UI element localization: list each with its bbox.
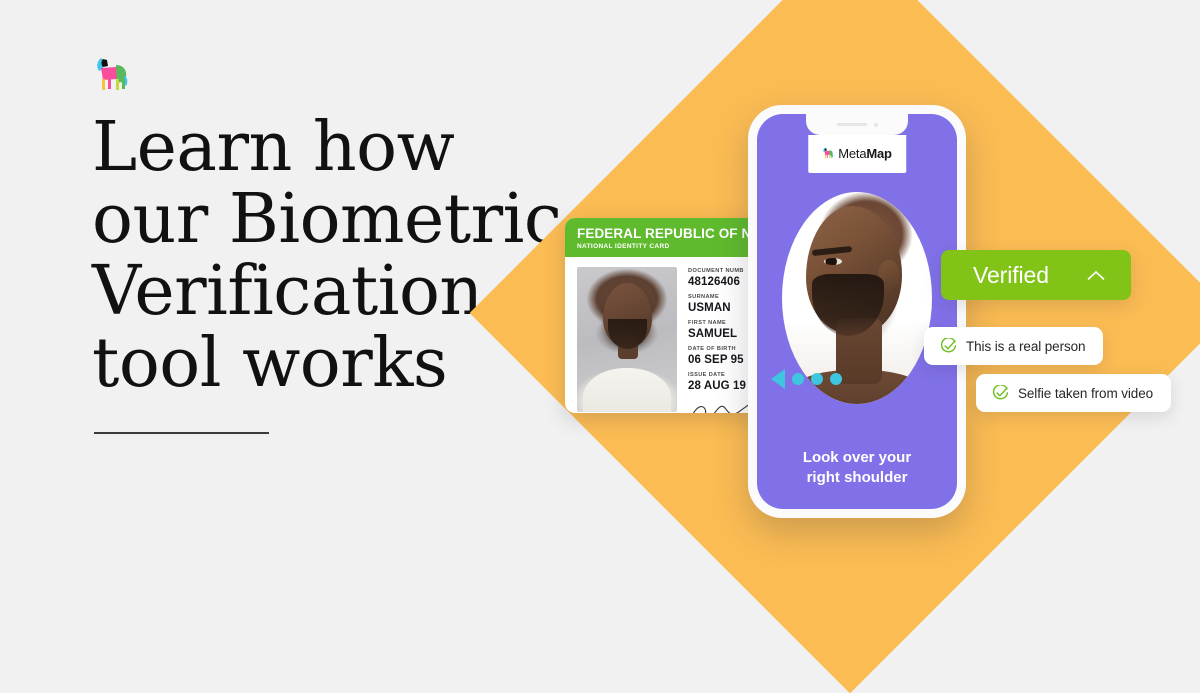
metamap-llama-logo-icon <box>822 147 835 160</box>
signature-icon <box>688 400 752 413</box>
id-card-subtitle: NATIONAL IDENTITY CARD <box>577 243 770 250</box>
headline-line-1: Learn how <box>92 112 572 184</box>
triangle-left-icon <box>771 369 785 389</box>
brand-logo <box>94 55 134 95</box>
progress-dot <box>811 373 823 385</box>
portrait-beard <box>608 319 647 349</box>
progress-dot <box>830 373 842 385</box>
phone-screen: Look over your right shoulder MetaMap <box>757 114 957 509</box>
chevron-up-icon[interactable] <box>1087 270 1105 281</box>
portrait-eye <box>824 258 842 265</box>
speaker-grille-icon <box>837 123 867 126</box>
selfie-instruction-line-1: Look over your <box>757 448 957 468</box>
check-pill-label: Selfie taken from video <box>1018 386 1153 401</box>
metamap-wordmark-suffix: Map <box>866 146 891 161</box>
metamap-llama-logo-icon <box>94 55 134 95</box>
id-card-portrait <box>577 267 677 412</box>
metamap-wordmark: MetaMap <box>838 146 892 161</box>
headline-line-2: our Biometric <box>92 184 572 256</box>
selfie-instruction: Look over your right shoulder <box>757 448 957 488</box>
headline-divider <box>94 432 269 434</box>
check-pill-label: This is a real person <box>966 339 1085 354</box>
check-circle-icon <box>992 385 1009 402</box>
check-circle-icon <box>940 338 957 355</box>
selfie-instruction-line-2: right shoulder <box>757 468 957 488</box>
progress-dot <box>792 373 804 385</box>
status-badge-label: Verified <box>973 262 1049 289</box>
status-badge-verified[interactable]: Verified <box>941 250 1131 300</box>
metamap-app-chip: MetaMap <box>808 135 906 173</box>
hero-illustration: FEDERAL REPUBLIC OF NIG NATIONAL IDENTIT… <box>540 0 1200 630</box>
check-pill-real-person: This is a real person <box>924 327 1103 365</box>
id-card-country: FEDERAL REPUBLIC OF NIG <box>577 226 770 241</box>
check-pill-selfie-video: Selfie taken from video <box>976 374 1171 412</box>
selfie-progress-indicator <box>771 369 842 389</box>
page-title: Learn how our Biometric Verification too… <box>92 112 572 400</box>
phone-mockup: Look over your right shoulder MetaMap <box>748 105 966 518</box>
phone-notch <box>806 114 908 135</box>
front-camera-icon <box>874 123 878 127</box>
metamap-wordmark-prefix: Meta <box>838 146 866 161</box>
